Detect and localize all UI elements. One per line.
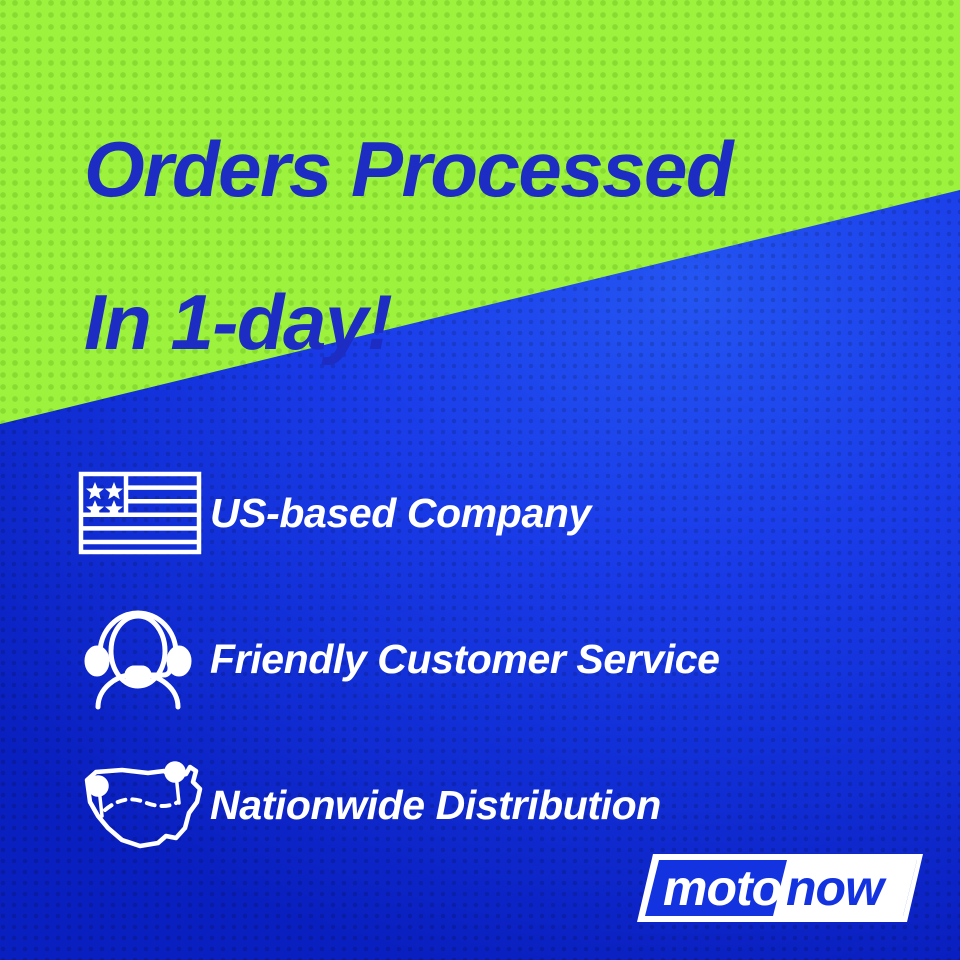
logo-text-now: now: [786, 860, 887, 916]
us-flag-icon: [78, 471, 202, 555]
feature-row: Friendly Customer Service: [70, 586, 950, 732]
feature-row: US-based Company: [70, 440, 950, 586]
logo-text-moto: moto: [663, 860, 781, 916]
feature-label: US-based Company: [210, 490, 591, 537]
logo-artwork: moto now: [635, 852, 925, 924]
headset-support-icon: [78, 607, 198, 711]
us-map-route-icon: [78, 758, 210, 852]
feature-icon-slot: [70, 471, 210, 555]
headline-line-2: In 1-day!: [84, 284, 944, 361]
feature-label: Friendly Customer Service: [210, 636, 720, 683]
feature-list: US-based Company: [70, 440, 950, 878]
headline-line-1: Orders Processed: [84, 131, 944, 208]
feature-icon-slot: [70, 758, 210, 852]
feature-icon-slot: [70, 607, 210, 711]
promo-banner: Orders Processed In 1-day!: [0, 0, 960, 960]
headline: Orders Processed In 1-day!: [84, 56, 944, 436]
feature-label: Nationwide Distribution: [210, 782, 661, 829]
motonow-logo[interactable]: moto now: [635, 852, 925, 924]
